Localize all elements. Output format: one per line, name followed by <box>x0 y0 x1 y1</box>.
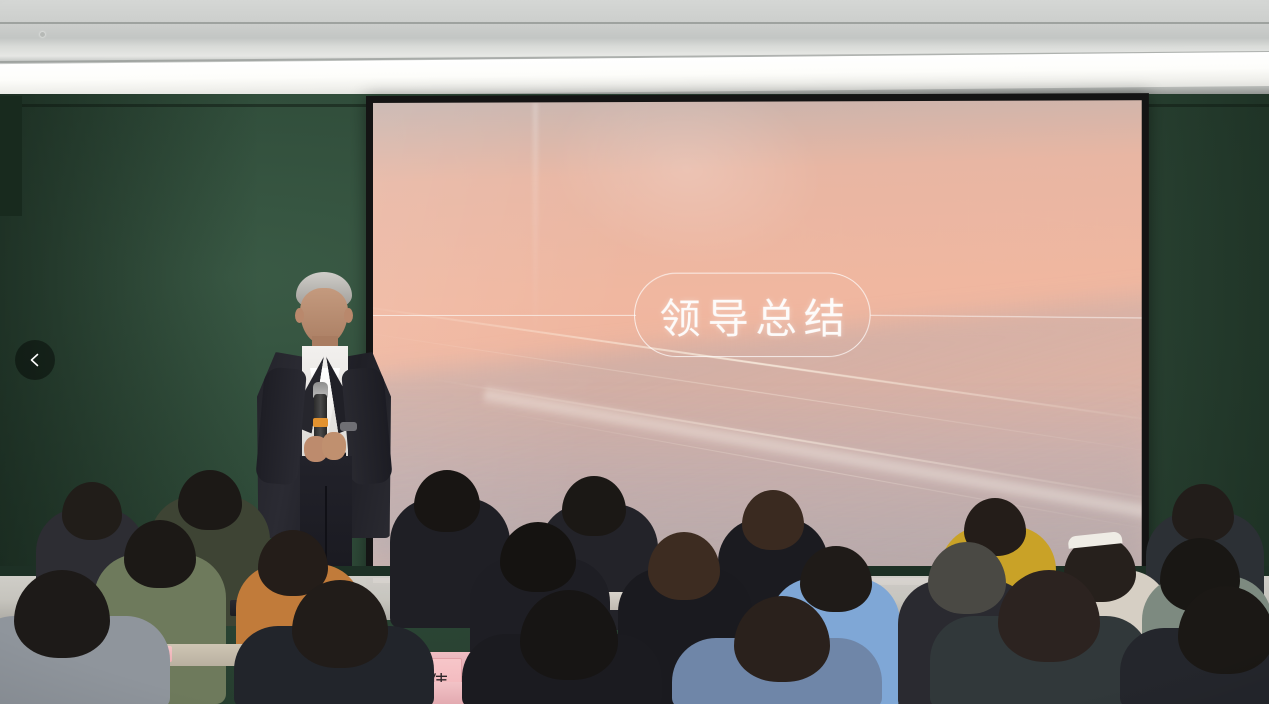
audience-person-head <box>62 482 122 540</box>
audience-person-head <box>800 546 872 612</box>
audience-person-head <box>742 490 804 550</box>
slide-vertical-streak <box>533 102 537 343</box>
slide-title-pill: 领导总结 <box>634 272 871 357</box>
slide-top-glow <box>498 100 874 289</box>
slide-connector-line-left <box>373 315 636 316</box>
audience-person-head <box>1172 484 1234 542</box>
audience-person-head <box>414 470 480 532</box>
chevron-left-icon <box>27 352 43 368</box>
ceiling-screw <box>40 32 45 37</box>
speaker-ear <box>295 308 304 323</box>
slide-title: 领导总结 <box>653 285 852 345</box>
audience-person-head <box>648 532 720 600</box>
audience-person-head <box>562 476 626 536</box>
previous-photo-button[interactable] <box>15 340 55 380</box>
wall-corner-panel <box>0 96 22 216</box>
speaker-ear <box>344 308 353 323</box>
audience-person-head <box>292 580 388 668</box>
microphone-band <box>313 418 328 427</box>
photo-viewer: 领导总结 <box>0 0 1269 704</box>
audience-person-head <box>178 470 242 530</box>
ceiling-seam <box>0 22 1269 24</box>
audience-seating: 伟 <box>0 430 1269 704</box>
